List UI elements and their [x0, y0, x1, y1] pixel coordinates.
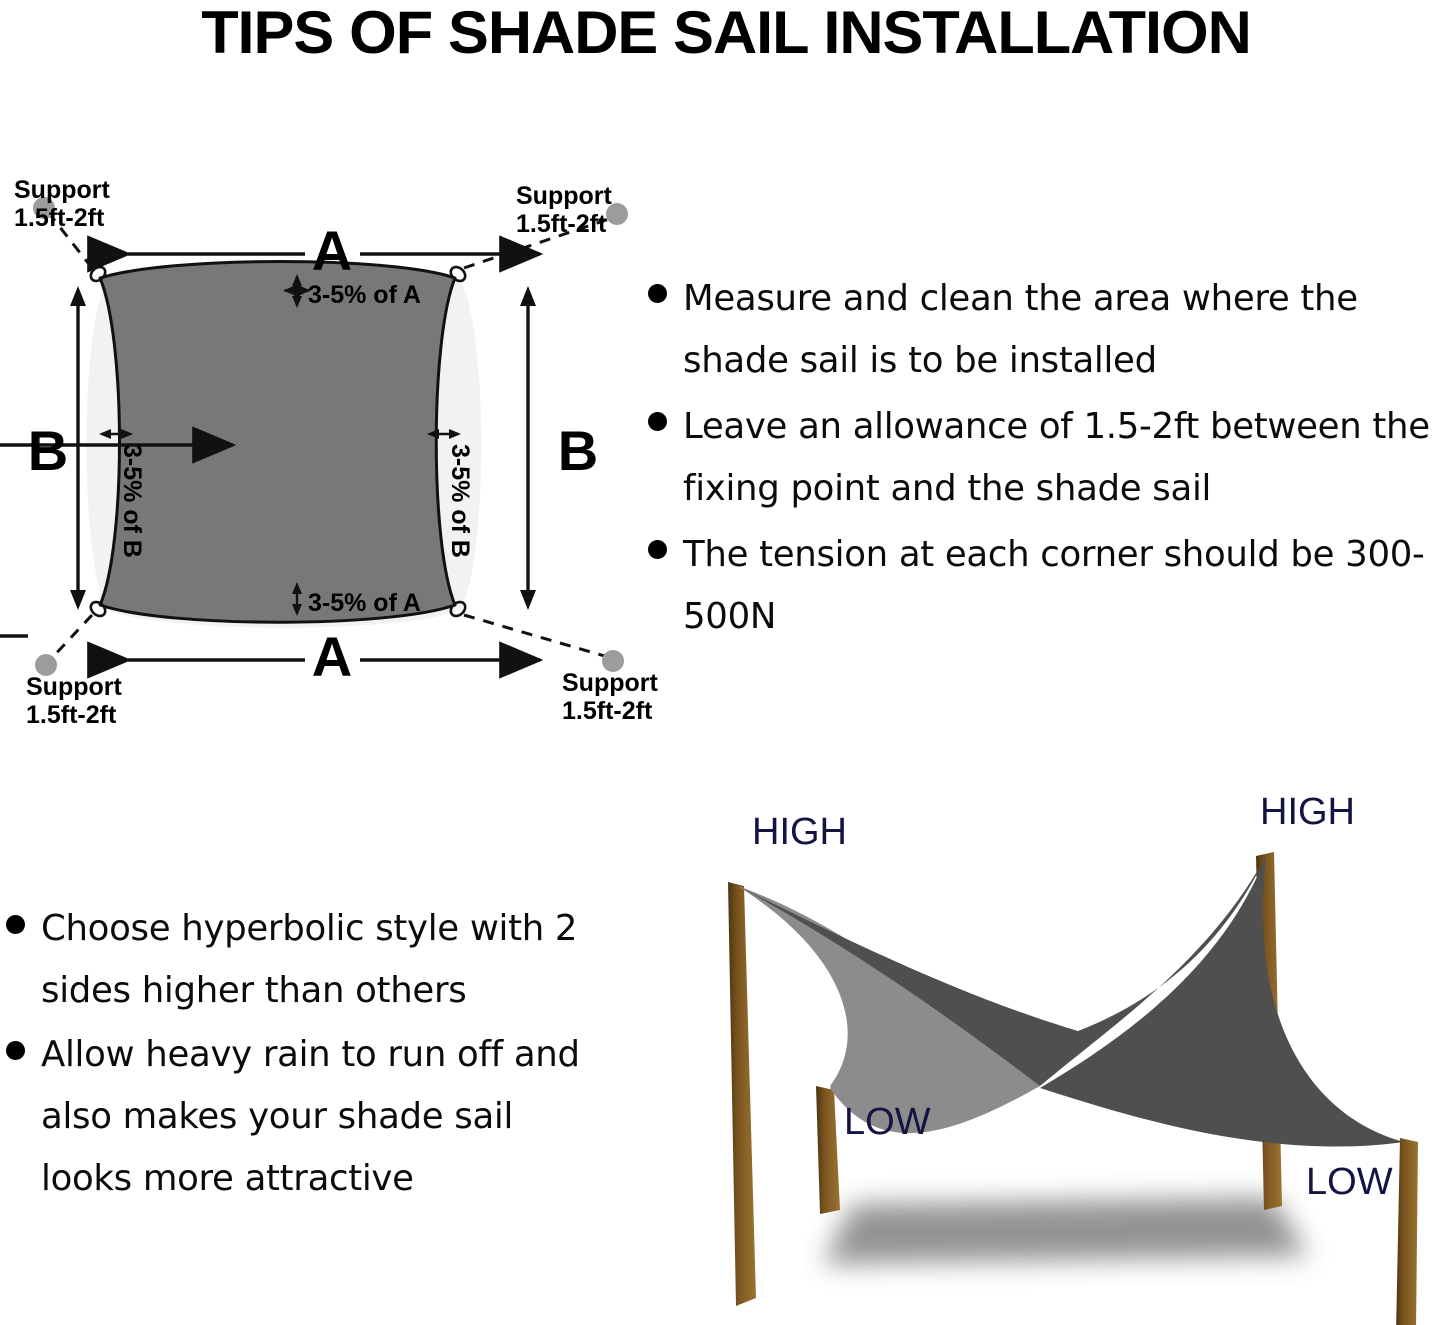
curve-callout-left-text: 3-5% of B [118, 444, 146, 558]
dimension-label-right-b: B [558, 419, 598, 482]
support-label-bottom-right-value: 1.5ft-2ft [562, 697, 653, 725]
installation-tips-list: Measure and clean the area where the sha… [648, 268, 1452, 652]
bullet-dot-icon [648, 284, 667, 303]
bullet-dot-icon [648, 540, 667, 559]
label-high-right: HIGH [1260, 791, 1355, 833]
tip-text: Measure and clean the area where the sha… [683, 268, 1443, 392]
bullet-dot-icon [648, 412, 667, 431]
dimension-label-left-b: B [28, 419, 68, 482]
ground-shadow [823, 1198, 1308, 1264]
bullet-dot-icon [6, 1041, 25, 1060]
pole-high-left [728, 882, 756, 1306]
dimension-line-left-b [70, 286, 86, 610]
tip-text: Leave an allowance of 1.5-2ft between th… [683, 396, 1443, 520]
list-item: Measure and clean the area where the sha… [648, 268, 1452, 392]
dimension-label-top-a: A [312, 219, 352, 282]
style-tips-list: Choose hyperbolic style with 2 sides hig… [6, 898, 631, 1212]
list-item: The tension at each corner should be 300… [648, 524, 1452, 648]
support-label-top-right-title: Support [516, 182, 612, 210]
support-label-top-right-value: 1.5ft-2ft [516, 210, 607, 238]
shade-sail-dimension-diagram: Support 1.5ft-2ft Support 1.5ft-2ft Supp… [0, 160, 660, 740]
support-label-bottom-right-title: Support [562, 669, 658, 697]
style-tip-text: Choose hyperbolic style with 2 sides hig… [41, 898, 611, 1022]
list-item: Allow heavy rain to run off and also mak… [6, 1024, 631, 1210]
pole-low-right [1396, 1138, 1418, 1325]
support-label-top-left-title: Support [14, 176, 110, 204]
label-low-left: LOW [844, 1101, 931, 1143]
list-item: Choose hyperbolic style with 2 sides hig… [6, 898, 631, 1022]
support-label-top-left-value: 1.5ft-2ft [14, 204, 105, 232]
curve-callout-bottom-text: 3-5% of A [308, 589, 421, 617]
curve-callout-top-text: 3-5% of A [308, 281, 421, 309]
support-label-bottom-left-value: 1.5ft-2ft [26, 701, 117, 729]
page-title: TIPS OF SHADE SAIL INSTALLATION [0, 0, 1452, 64]
curve-callout-right-text: 3-5% of B [446, 444, 474, 558]
hyperbolic-sail-illustration: HIGH HIGH LOW LOW [648, 786, 1452, 1325]
bullet-dot-icon [6, 915, 25, 934]
dimension-label-bottom-a: A [312, 625, 352, 688]
support-label-bottom-left-title: Support [26, 673, 122, 701]
sail-panel-dark-lower [1040, 856, 1404, 1147]
pole-low-left [816, 1086, 840, 1214]
label-high-left: HIGH [752, 811, 847, 853]
dimension-line-right-b [520, 286, 536, 610]
list-item: Leave an allowance of 1.5-2ft between th… [648, 396, 1452, 520]
label-low-right: LOW [1306, 1161, 1393, 1203]
style-tip-text: Allow heavy rain to run off and also mak… [41, 1024, 611, 1210]
tip-text: The tension at each corner should be 300… [683, 524, 1443, 648]
